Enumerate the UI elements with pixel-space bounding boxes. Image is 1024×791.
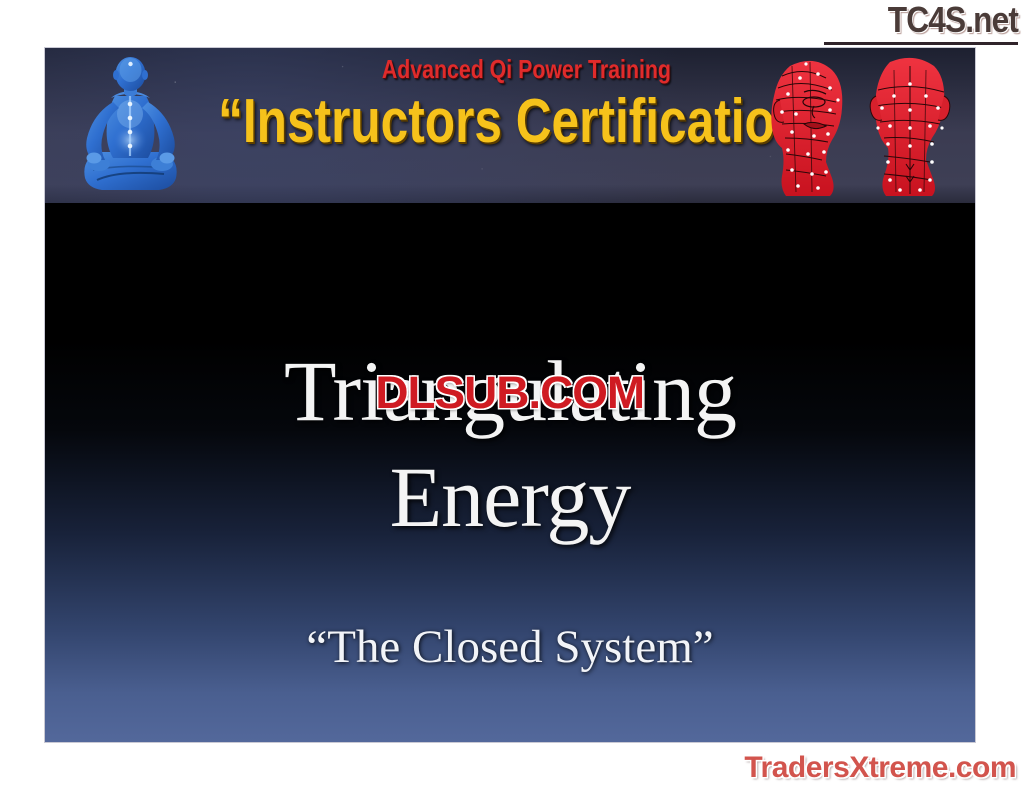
slide-subtitle: “The Closed System” [45, 618, 975, 676]
presentation-slide: Advanced Qi Power Training “Instructors … [45, 48, 975, 742]
anatomy-heads-icon [752, 50, 967, 203]
tc4s-watermark-text: TC4S.net [888, 2, 1018, 38]
slide-title-line-1: Triangulating [45, 338, 975, 444]
slide-title-line-2: Energy [45, 444, 975, 550]
tc4s-watermark: TC4S.net [818, 2, 1018, 46]
title-block: Triangulating Energy [45, 338, 975, 550]
tradersxtreme-watermark: TradersXtreme.com [744, 751, 1016, 785]
slide-title: Triangulating Energy [45, 338, 975, 550]
slide-header-banner: Advanced Qi Power Training “Instructors … [45, 48, 975, 203]
tc4s-watermark-rule [824, 42, 1018, 45]
tradersxtreme-watermark-text: TradersXtreme.com [744, 751, 1016, 784]
